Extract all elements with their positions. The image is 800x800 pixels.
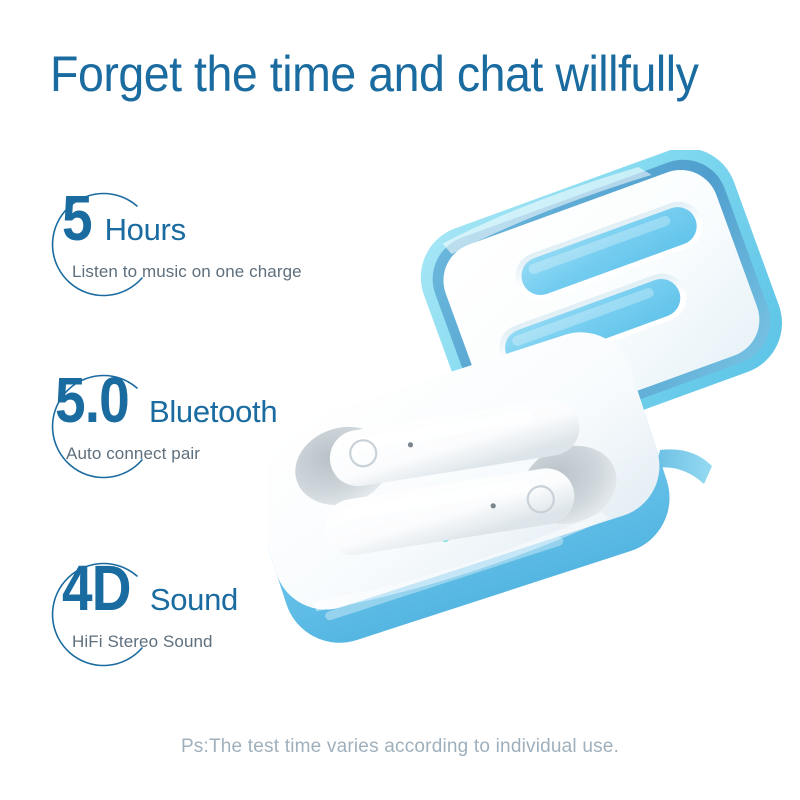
footnote-text: Ps:The test time varies according to ind… (0, 736, 800, 758)
feature-subtitle: Listen to music on one charge (72, 262, 302, 282)
page-title: Forget the time and chat willfully (50, 44, 720, 104)
feature-headline: 5 Hours (62, 186, 186, 250)
feature-headline: 4D Sound (62, 556, 238, 620)
feature-headline: 5.0 Bluetooth (55, 368, 277, 432)
feature-number: 4D (62, 556, 131, 620)
feature-subtitle: Auto connect pair (66, 444, 200, 464)
banner-stage: Forget the time and chat willfully (0, 0, 800, 800)
feature-unit: Hours (105, 214, 186, 245)
feature-unit: Sound (150, 584, 238, 615)
feature-subtitle: HiFi Stereo Sound (72, 632, 213, 652)
feature-item-bluetooth: 5.0 Bluetooth Auto connect pair (0, 360, 400, 510)
feature-number: 5.0 (55, 368, 129, 432)
feature-item-hours: 5 Hours Listen to music on one charge (0, 178, 400, 328)
feature-unit: Bluetooth (149, 396, 277, 427)
feature-number: 5 (62, 186, 92, 250)
feature-item-sound: 4D Sound HiFi Stereo Sound (0, 548, 400, 698)
